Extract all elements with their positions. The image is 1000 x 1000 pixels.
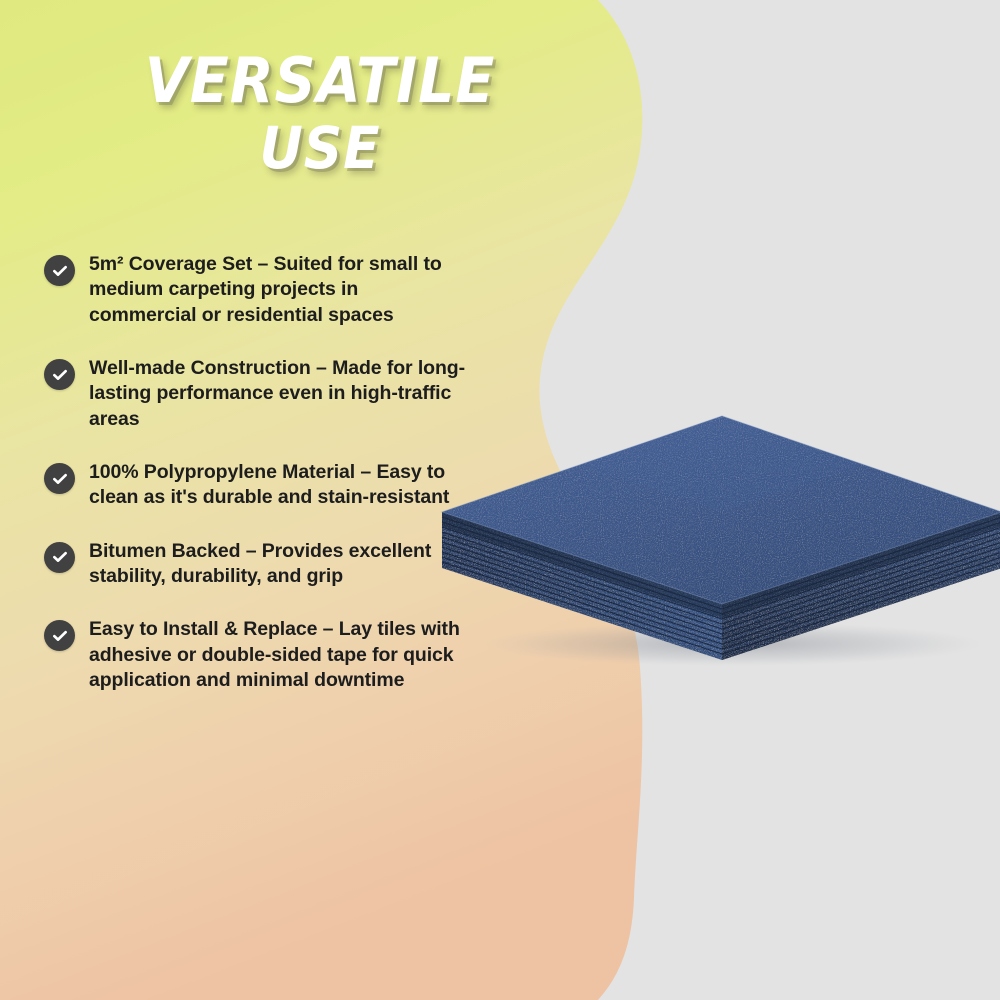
feature-text: 100% Polypropylene Material – Easy to cl… bbox=[89, 460, 469, 511]
feature-list: 5m² Coverage Set – Suited for small to m… bbox=[44, 252, 484, 721]
check-circle-icon bbox=[44, 620, 75, 651]
feature-text: 5m² Coverage Set – Suited for small to m… bbox=[89, 252, 469, 328]
list-item: Easy to Install & Replace – Lay tiles wi… bbox=[44, 617, 484, 693]
product-infographic-poster: VERSATILE USE bbox=[0, 0, 1000, 1000]
check-circle-icon bbox=[44, 359, 75, 390]
check-circle-icon bbox=[44, 463, 75, 494]
list-item: Well-made Construction – Made for long-l… bbox=[44, 356, 484, 432]
feature-text: Easy to Install & Replace – Lay tiles wi… bbox=[89, 617, 469, 693]
product-image-carpet-tile-stack bbox=[432, 408, 1000, 668]
list-item: Bitumen Backed – Provides excellent stab… bbox=[44, 539, 484, 590]
feature-text: Well-made Construction – Made for long-l… bbox=[89, 356, 469, 432]
list-item: 5m² Coverage Set – Suited for small to m… bbox=[44, 252, 484, 328]
list-item: 100% Polypropylene Material – Easy to cl… bbox=[44, 460, 484, 511]
feature-text: Bitumen Backed – Provides excellent stab… bbox=[89, 539, 469, 590]
check-circle-icon bbox=[44, 255, 75, 286]
check-circle-icon bbox=[44, 542, 75, 573]
